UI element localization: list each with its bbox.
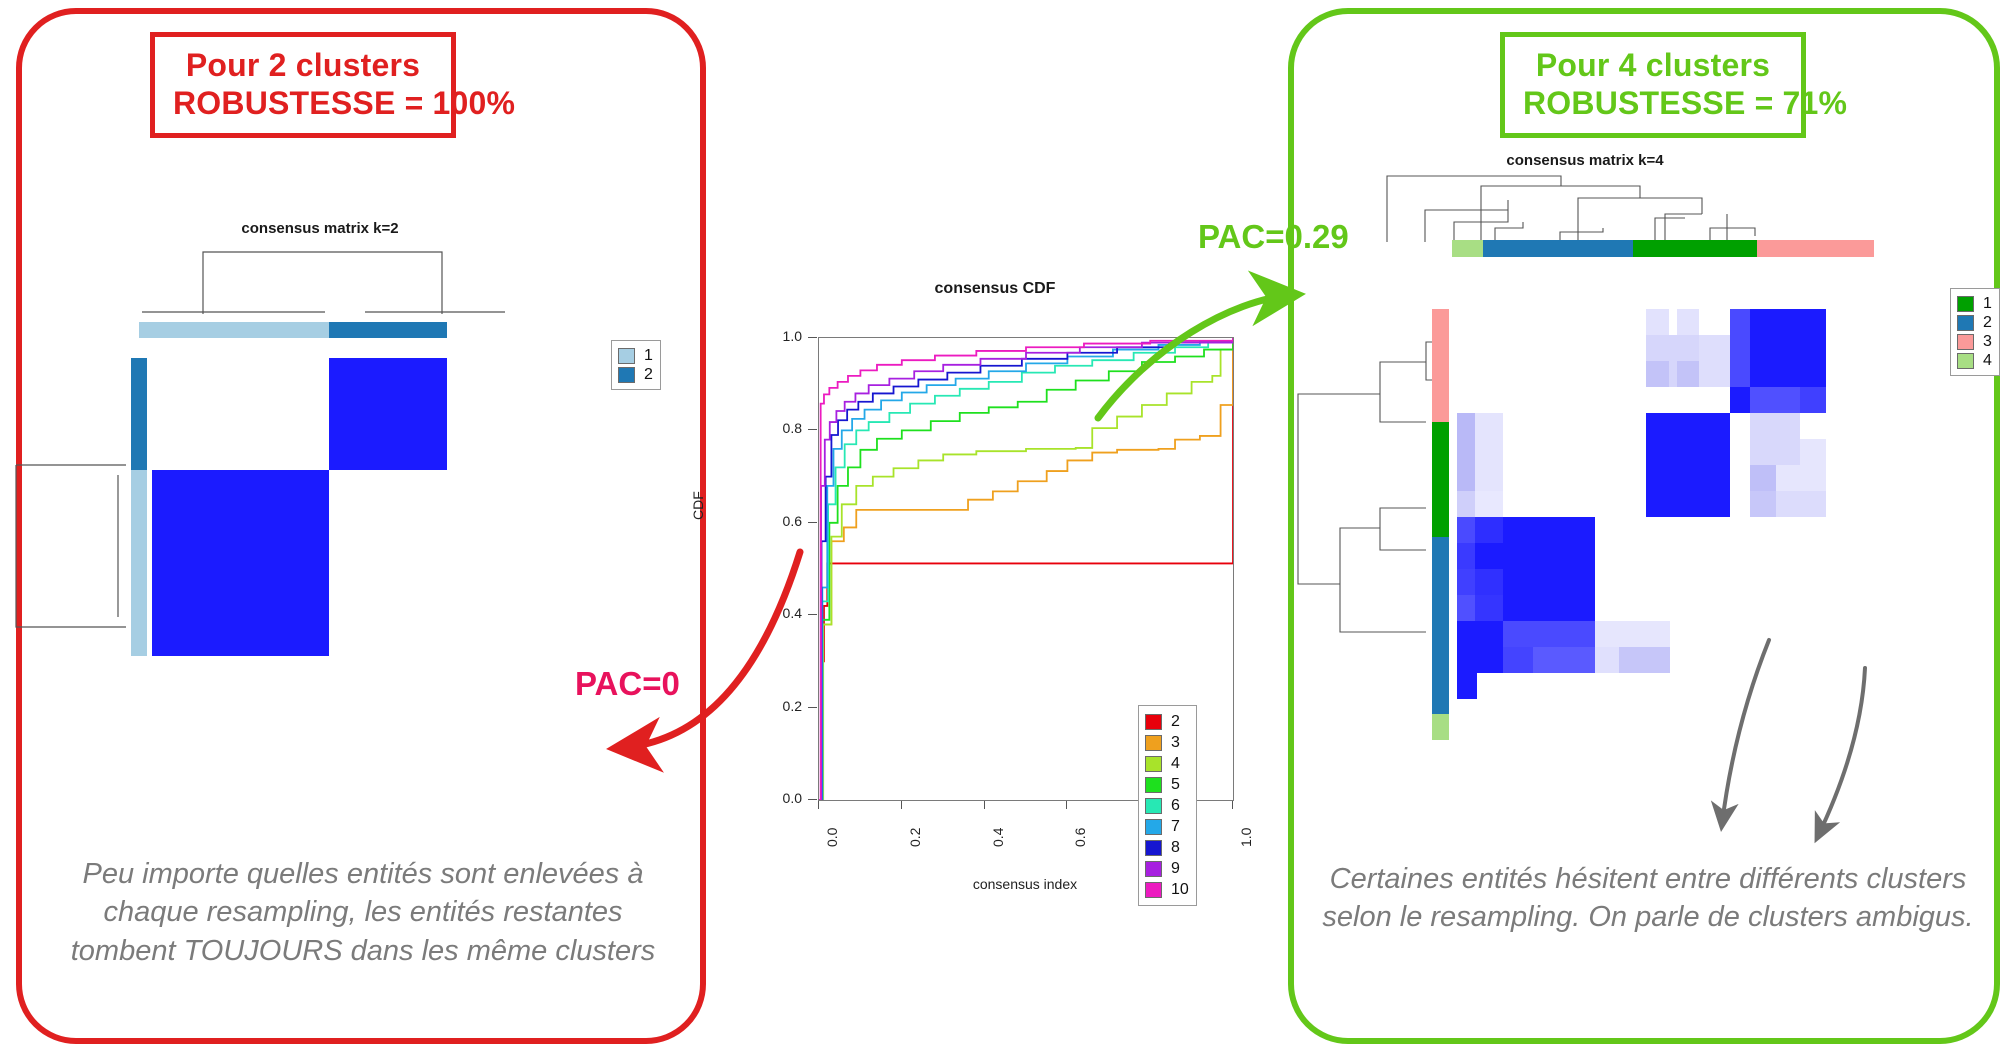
legend-label-5: 5 <box>1171 777 1180 793</box>
legend-label-4: 4 <box>1171 756 1180 772</box>
left-panel-caption: Peu importe quelles entités sont enlevée… <box>48 855 678 970</box>
legend-label-6: 6 <box>1171 798 1180 814</box>
k2-row-dendrogram <box>14 355 132 655</box>
legend-swatch-4 <box>1145 756 1162 772</box>
cdf-ytick-label: 0.4 <box>760 605 802 621</box>
k2-cluster-legend: 1 2 <box>611 340 661 390</box>
right-header-line1: Pour 4 clusters <box>1523 47 1783 85</box>
legend-label-1: 1 <box>644 348 653 364</box>
left-header-line1: Pour 2 clusters <box>173 47 433 85</box>
legend-item: 1 <box>1957 294 1992 313</box>
k4-column-dendrogram <box>1355 166 1775 246</box>
heat-block-cluster2 <box>329 358 447 470</box>
legend-swatch-5 <box>1145 777 1162 793</box>
k2-column-dendrogram <box>130 236 510 322</box>
heat-block-cluster1 <box>152 470 329 656</box>
k2-row-cluster-bar <box>131 358 147 656</box>
k4-row-cluster-bar <box>1432 309 1449 641</box>
pac-label-right: PAC=0.29 <box>1198 218 1349 256</box>
legend-item: 2 <box>618 365 653 384</box>
k4-column-cluster-bar <box>1452 240 1874 257</box>
cdf-ytick-mark <box>808 707 817 708</box>
k2-consensus-heatmap <box>152 358 447 656</box>
legend-item: 6 <box>1145 795 1189 816</box>
cdf-ytick-label: 0.8 <box>760 420 802 436</box>
left-header-line2: ROBUSTESSE = 100% <box>173 85 433 123</box>
cdf-ytick-label: 0.2 <box>760 698 802 714</box>
cdf-title: consensus CDF <box>700 280 1290 298</box>
k4-consensus-heatmap <box>1455 309 1879 640</box>
cdf-xtick-label: 0.6 <box>1072 828 1088 847</box>
legend-item: 4 <box>1957 351 1992 370</box>
k4-cluster-legend: 1 2 3 4 <box>1950 288 2000 376</box>
legend-swatch-4 <box>1957 353 1974 369</box>
legend-swatch-2 <box>1145 714 1162 730</box>
legend-label-2: 2 <box>1983 315 1992 331</box>
legend-label-2: 2 <box>1171 714 1180 730</box>
legend-swatch-1 <box>1957 296 1974 312</box>
legend-swatch-8 <box>1145 840 1162 856</box>
k2-column-cluster-bar <box>139 322 447 338</box>
cdf-ytick-mark <box>808 799 817 800</box>
cdf-xtick-label: 0.4 <box>990 828 1006 847</box>
cdf-xtick-label: 0.0 <box>824 828 840 847</box>
legend-label-3: 3 <box>1983 334 1992 350</box>
legend-item: 7 <box>1145 816 1189 837</box>
k2-plot-title: consensus matrix k=2 <box>130 220 510 237</box>
cdf-series-legend: 2345678910 <box>1138 705 1197 906</box>
cdf-ytick-mark <box>808 337 817 338</box>
legend-label-10: 10 <box>1171 882 1189 898</box>
legend-swatch-9 <box>1145 861 1162 877</box>
legend-item: 2 <box>1957 313 1992 332</box>
cdf-xtick-label: 1.0 <box>1238 828 1254 847</box>
legend-label-4: 4 <box>1983 353 1992 369</box>
legend-item: 3 <box>1145 732 1189 753</box>
consensus-cdf-plot: consensus CDF CDF consensus index 0.00.2… <box>700 280 1290 900</box>
legend-label-1: 1 <box>1983 296 1992 312</box>
legend-swatch-2 <box>1957 315 1974 331</box>
legend-item: 10 <box>1145 879 1189 900</box>
cdf-ytick-mark <box>808 614 817 615</box>
legend-swatch-3 <box>1145 735 1162 751</box>
legend-item: 8 <box>1145 837 1189 858</box>
pac-label-left: PAC=0 <box>575 665 680 703</box>
cdf-ytick-label: 1.0 <box>760 328 802 344</box>
legend-swatch-2 <box>618 367 635 383</box>
cdf-ytick-label: 0.6 <box>760 513 802 529</box>
cdf-ytick-label: 0.0 <box>760 790 802 806</box>
cdf-ytick-mark <box>808 522 817 523</box>
legend-item: 3 <box>1957 332 1992 351</box>
legend-swatch-6 <box>1145 798 1162 814</box>
legend-swatch-10 <box>1145 882 1162 898</box>
legend-swatch-1 <box>618 348 635 364</box>
k4-row-dendrogram <box>1288 300 1438 640</box>
legend-item: 4 <box>1145 753 1189 774</box>
cdf-xtick-label: 0.2 <box>907 828 923 847</box>
legend-label-7: 7 <box>1171 819 1180 835</box>
legend-label-8: 8 <box>1171 840 1180 856</box>
legend-label-2: 2 <box>644 367 653 383</box>
left-panel-header: Pour 2 clusters ROBUSTESSE = 100% <box>150 32 456 138</box>
legend-swatch-3 <box>1957 334 1974 350</box>
legend-label-9: 9 <box>1171 861 1180 877</box>
legend-item: 5 <box>1145 774 1189 795</box>
legend-label-3: 3 <box>1171 735 1180 751</box>
legend-item: 9 <box>1145 858 1189 879</box>
cdf-y-axis-label: CDF <box>690 491 706 520</box>
legend-item: 2 <box>1145 711 1189 732</box>
legend-item: 1 <box>618 346 653 365</box>
right-panel-caption: Certaines entités hésitent entre différe… <box>1318 860 1978 937</box>
right-header-line2: ROBUSTESSE = 71% <box>1523 85 1783 123</box>
cdf-ytick-mark <box>808 429 817 430</box>
legend-swatch-7 <box>1145 819 1162 835</box>
right-panel-header: Pour 4 clusters ROBUSTESSE = 71% <box>1500 32 1806 138</box>
